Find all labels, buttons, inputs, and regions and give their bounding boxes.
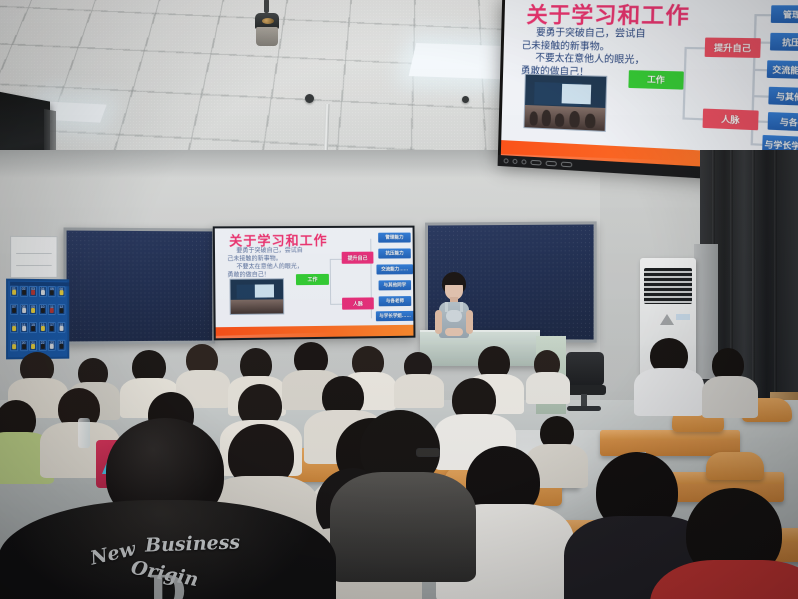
diagram-node-blue-5: 与学长学姐……	[376, 311, 414, 321]
ac-brand-icon	[660, 314, 674, 325]
phone-pocket[interactable]: 12	[58, 304, 66, 315]
chair-backrest	[566, 352, 604, 386]
diagram-node-blue-4: 与各老师	[379, 296, 412, 306]
phone-pocket[interactable]: 16	[39, 322, 47, 333]
phone-pocket[interactable]: 20	[20, 340, 28, 351]
camera-stalk	[264, 0, 269, 13]
shirt-logo: D	[142, 570, 192, 599]
stored-phone	[41, 344, 45, 349]
photo-person	[569, 111, 580, 127]
slide-title: 关于学习和工作	[526, 0, 690, 31]
poster-line	[16, 253, 52, 254]
wall-poster	[10, 236, 57, 278]
phone-pocket[interactable]: 21	[29, 340, 37, 351]
diagram-node-work: 工作	[628, 70, 683, 89]
phone-pocket[interactable]: 05	[48, 286, 56, 297]
ac-label	[676, 314, 690, 320]
stored-phone	[31, 308, 35, 313]
presenter-arm	[435, 310, 442, 334]
stored-phone	[31, 326, 35, 331]
photo-person	[529, 112, 538, 126]
diagram-connector	[330, 259, 331, 305]
phone-pocket[interactable]: 11	[48, 304, 56, 315]
presenter-hands	[445, 328, 463, 336]
phone-pocket[interactable]: 09	[29, 304, 37, 315]
diagram-node-blue-0: 管理能力	[378, 233, 411, 243]
projection-screen[interactable]: 关于学习和工作 要勇于突破自己，尝试自 己未接触的新事物。 不要太在意他人的眼光…	[213, 226, 416, 341]
glasses-icon	[416, 448, 440, 457]
phone-pocket[interactable]: 17	[48, 322, 56, 333]
auditorium-seat	[706, 452, 764, 480]
stored-phone	[50, 308, 54, 313]
stored-phone	[50, 344, 54, 349]
phone-storage-pockets[interactable]: 0102030405060708091011121314151617181920…	[6, 279, 69, 360]
diagram-node-blue-3: 与其他同学	[768, 87, 798, 107]
stored-phone	[41, 290, 45, 295]
phone-pocket[interactable]: 19	[10, 341, 18, 352]
stored-phone	[12, 290, 16, 295]
phone-pocket[interactable]: 18	[58, 322, 66, 333]
stored-phone	[22, 290, 26, 295]
stored-phone	[22, 344, 26, 349]
blackboard-texture	[67, 231, 213, 342]
phone-pocket[interactable]: 08	[20, 304, 28, 315]
phone-pocket[interactable]: 04	[39, 286, 47, 297]
foreground-student: New Business Origin D	[14, 418, 314, 599]
presenter-fringe	[443, 276, 465, 285]
stored-phone	[59, 290, 63, 295]
slide-body-line: 要勇于突破自己，尝试自	[522, 27, 646, 41]
stored-phone	[31, 344, 35, 349]
stored-phone	[59, 308, 63, 313]
diagram-node-blue-3: 与其他同学	[379, 280, 412, 290]
slide-embedded-photo	[229, 278, 284, 315]
ceiling-camera	[255, 5, 279, 47]
phone-pocket[interactable]: 15	[29, 322, 37, 333]
phone-pocket[interactable]: 14	[20, 322, 28, 333]
shirt-text-word2: Business	[144, 531, 240, 556]
stored-phone	[59, 326, 63, 331]
diagram-node-improve-self: 提升自己	[342, 252, 374, 264]
student-shoulders	[394, 374, 444, 408]
photo-person	[554, 114, 564, 127]
phone-pocket[interactable]: 03	[29, 286, 37, 297]
slide-title: 关于学习和工作	[229, 230, 328, 250]
slide-embedded-photo	[523, 74, 607, 132]
diagram-node-connections: 人脉	[342, 297, 374, 309]
diagram-node-blue-0: 管理能力	[771, 5, 798, 23]
stored-phone	[50, 290, 54, 295]
diagram-node-connections: 人脉	[703, 109, 759, 131]
phone-pocket[interactable]: 23	[48, 340, 56, 351]
student-shoulders	[526, 372, 570, 404]
photo-screen	[255, 285, 274, 297]
poster-line	[16, 265, 52, 266]
ceiling-sensor-icon	[462, 96, 469, 103]
photo-screen	[561, 84, 591, 104]
diagram-node-blue-1: 抗压能力	[770, 33, 798, 52]
stored-phone	[22, 308, 26, 313]
slide-content-projected: 关于学习和工作 要勇于突破自己，尝试自 己未接触的新事物。 不要太在意他人的眼光…	[215, 228, 414, 339]
source-icon[interactable]	[561, 162, 572, 168]
stored-phone	[31, 290, 35, 295]
phone-pocket[interactable]: 13	[10, 322, 18, 333]
stored-phone	[12, 308, 16, 313]
camera-lens-icon	[262, 18, 274, 24]
phone-pocket[interactable]: 22	[39, 340, 47, 351]
ac-vent-grille	[644, 268, 692, 304]
phone-pocket[interactable]: 10	[39, 304, 47, 315]
phone-pocket[interactable]: 07	[10, 304, 18, 315]
diagram-node-blue-1: 抗压能力	[378, 248, 411, 258]
power-icon[interactable]	[504, 158, 509, 163]
presenter-strap	[445, 302, 448, 312]
stored-phone	[41, 308, 45, 313]
stored-phone	[12, 326, 16, 331]
diagram-connector	[754, 14, 771, 16]
student-shoulders	[330, 472, 476, 582]
classroom-scene: 关于学习和工作 要勇于突破自己，尝试自 己未接触的新事物。 不要太在意他人的眼光…	[0, 0, 798, 599]
stored-phone	[22, 326, 26, 331]
slide-footer-band	[216, 325, 414, 339]
phone-pocket[interactable]: 02	[20, 286, 28, 297]
shirt-text-word1: New	[88, 538, 138, 570]
photo-person	[542, 110, 551, 126]
blackboard-left	[64, 227, 216, 344]
stored-phone	[41, 326, 45, 331]
phone-pocket[interactable]: 24	[58, 340, 66, 351]
phone-pocket[interactable]: 01	[10, 286, 18, 297]
diagram-node-blue-2: 交流能力……	[767, 60, 798, 79]
presenter-speaker	[432, 272, 476, 338]
presenter-arm	[466, 310, 473, 334]
input-icon[interactable]	[546, 161, 557, 167]
ceiling-sensor-icon	[305, 94, 314, 103]
plus-icon[interactable]	[530, 160, 541, 166]
diagram-node-blue-2: 交流能力……	[376, 264, 413, 274]
diagram-node-blue-4: 与各老师	[768, 112, 798, 132]
stored-phone	[12, 345, 16, 350]
diagram-connector	[752, 95, 769, 97]
stored-phone	[59, 344, 63, 349]
slide-body-line: 要勇于突破自己，尝试自	[227, 248, 303, 256]
minus-icon[interactable]	[521, 159, 526, 164]
photo-person	[585, 114, 595, 128]
stored-phone	[50, 326, 54, 331]
menu-icon[interactable]	[512, 159, 517, 164]
chair-base	[567, 406, 601, 411]
slide-body-line: 不要太在意他人的眼光，	[227, 264, 303, 273]
camera-body	[256, 27, 278, 46]
student-shoulders	[702, 376, 758, 418]
photo-audience	[231, 299, 284, 314]
diagram-node-improve-self: 提升自己	[705, 38, 761, 58]
diagram-node-work: 工作	[296, 274, 329, 285]
phone-pocket[interactable]: 06	[58, 286, 66, 297]
student-shoulders	[634, 368, 704, 416]
presenter-strap	[460, 302, 463, 312]
